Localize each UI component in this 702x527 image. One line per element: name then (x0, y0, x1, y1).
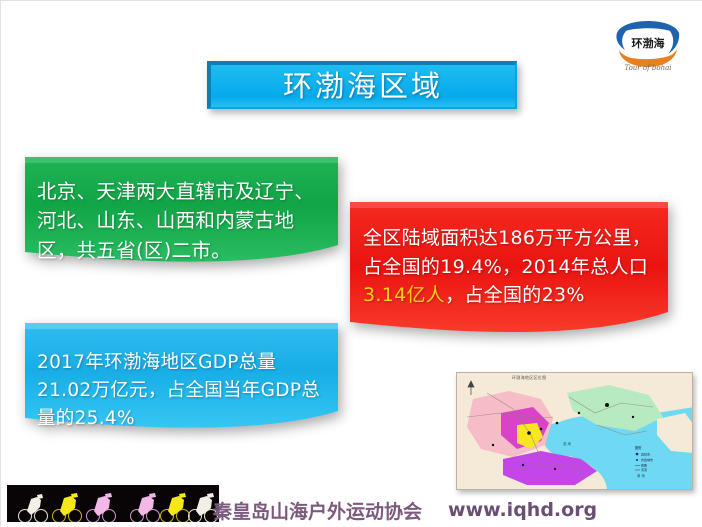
organization-name: 秦皇岛山海户外运动协会 (213, 497, 422, 524)
red-box-highlight: 3.14亿人 (363, 284, 445, 306)
svg-text:黄 海: 黄 海 (637, 473, 645, 478)
map-graphic: 图例 直辖市 省会城市 铁路 河流 渤 海 黄 海 (457, 373, 693, 490)
red-box-text-part1: 全区陆域面积达186万平方公里，占全国的19.4%，2014年总人口 (363, 227, 651, 278)
svg-text:环渤海: 环渤海 (632, 36, 665, 50)
svg-text:省会城市: 省会城市 (641, 457, 653, 462)
svg-text:渤 海: 渤 海 (563, 441, 571, 446)
svg-text:铁路: 铁路 (641, 463, 647, 468)
svg-text:Tour of bohai: Tour of bohai (624, 64, 671, 72)
info-box-green: 北京、天津两大直辖市及辽宁、河北、山东、山西和内蒙古地区，共五省(区)二市。 (19, 153, 344, 281)
info-box-red: 全区陆域面积达186万平方公里，占全国的19.4%，2014年总人口3.14亿人… (345, 198, 673, 353)
logo-bohai: 环渤海 Tour of bohai (604, 9, 692, 75)
svg-text:图例: 图例 (635, 445, 641, 450)
slide-title-banner: 环渤海区域 (207, 61, 517, 109)
red-box-text: 全区陆域面积达186万平方公里，占全国的19.4%，2014年总人口3.14亿人… (345, 198, 673, 320)
footer-watermark: 秦皇岛山海户外运动协会 www.iqhd.org (213, 497, 613, 523)
green-box-text: 北京、天津两大直辖市及辽宁、河北、山东、山西和内蒙古地区，共五省(区)二市。 (19, 153, 344, 275)
map-legend: 图例 直辖市 省会城市 铁路 河流 (635, 445, 667, 472)
red-box-text-part2: ，占全国的23% (445, 284, 585, 306)
page-title: 环渤海区域 (283, 72, 443, 101)
cyclist-photo-strip (7, 485, 219, 522)
cyan-box-text: 2017年环渤海地区GDP总量21.02万亿元，占全国当年GDP总量的25.4% (19, 319, 344, 442)
info-box-cyan: 2017年环渤海地区GDP总量21.02万亿元，占全国当年GDP总量的25.4% (19, 319, 344, 447)
website-url: www.iqhd.org (448, 499, 597, 521)
svg-text:河流: 河流 (641, 467, 647, 472)
bohai-region-map: 图例 直辖市 省会城市 铁路 河流 渤 海 黄 海 环渤海地区区位图 (456, 372, 693, 490)
slide-canvas: 环渤海 Tour of bohai 环渤海区域 北京、天津两大直辖市及辽宁、河北… (0, 0, 702, 527)
map-caption: 环渤海地区区位图 (512, 375, 546, 381)
cyclists-graphic (7, 485, 219, 522)
svg-text:直辖市: 直辖市 (641, 451, 650, 456)
logo-graphic: 环渤海 Tour of bohai (604, 9, 692, 75)
